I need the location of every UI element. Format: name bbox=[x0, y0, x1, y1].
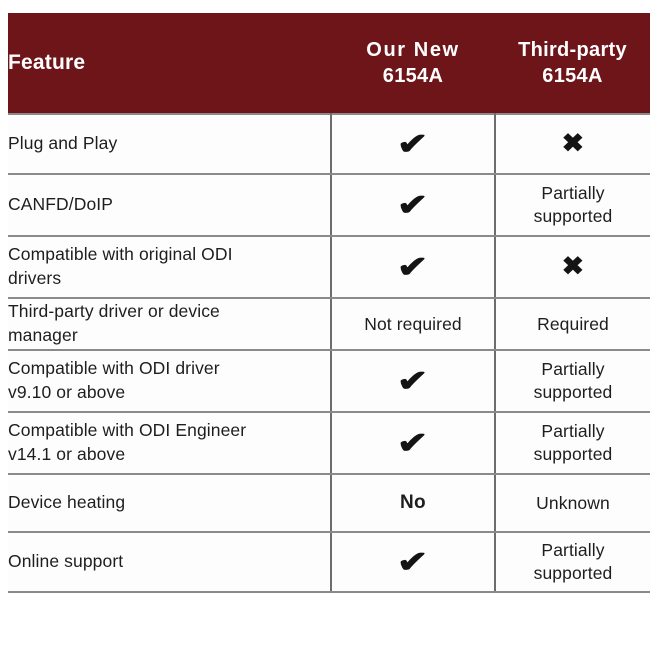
our-product-value-cell: ✔ bbox=[331, 114, 495, 174]
third-party-value-cell: Unknown bbox=[495, 474, 650, 532]
feature-cell: Device heating bbox=[8, 474, 331, 532]
header-third-party-line1: Third-party bbox=[495, 37, 650, 63]
our-product-value-cell: Not required bbox=[331, 298, 495, 350]
header-third-party-product: Third-party 6154A bbox=[495, 13, 650, 114]
value-text-line1: Partially bbox=[496, 420, 650, 443]
check-icon: ✔ bbox=[397, 367, 429, 397]
feature-cell: CANFD/DoIP bbox=[8, 174, 331, 236]
check-icon: ✔ bbox=[397, 191, 429, 221]
check-icon: ✔ bbox=[397, 429, 429, 459]
third-party-value-cell: Required bbox=[495, 298, 650, 350]
feature-text-line1: Compatible with ODI driver bbox=[8, 357, 330, 381]
page-root: Feature Our New 6154A Third-party 6154A … bbox=[0, 0, 650, 650]
header-third-party-line2: 6154A bbox=[495, 63, 650, 89]
our-product-value-cell: ✔ bbox=[331, 412, 495, 474]
table-row: Compatible with original ODIdrivers✔✖ bbox=[8, 236, 650, 298]
cross-icon: ✖ bbox=[562, 131, 585, 157]
value-text-line1: Partially bbox=[496, 358, 650, 381]
third-party-value-cell: ✖ bbox=[495, 114, 650, 174]
feature-cell: Third-party driver or devicemanager bbox=[8, 298, 331, 350]
our-product-value-cell: ✔ bbox=[331, 350, 495, 412]
value-text-line1: Unknown bbox=[496, 492, 650, 515]
table-row: Plug and Play✔✖ bbox=[8, 114, 650, 174]
table-row: Third-party driver or devicemanagerNot r… bbox=[8, 298, 650, 350]
third-party-value-cell: Partiallysupported bbox=[495, 350, 650, 412]
feature-text-line1: Compatible with original ODI bbox=[8, 243, 330, 267]
value-text-line2: supported bbox=[496, 562, 650, 585]
feature-text-line1: Plug and Play bbox=[8, 132, 330, 156]
value-text-line1: Partially bbox=[496, 539, 650, 562]
value-text-line1: No bbox=[332, 491, 494, 516]
third-party-value-cell: Partiallysupported bbox=[495, 412, 650, 474]
header-our-product-line1: Our New bbox=[331, 37, 495, 63]
check-icon: ✔ bbox=[397, 253, 429, 283]
value-text-line2: supported bbox=[496, 381, 650, 404]
feature-text-line1: CANFD/DoIP bbox=[8, 193, 330, 217]
value-text-line1: Not required bbox=[332, 313, 494, 336]
our-product-value-cell: ✔ bbox=[331, 532, 495, 592]
check-icon: ✔ bbox=[397, 548, 429, 578]
third-party-value-cell: Partiallysupported bbox=[495, 174, 650, 236]
feature-text-line2: v14.1 or above bbox=[8, 443, 330, 467]
value-text-line1: Partially bbox=[496, 182, 650, 205]
table-header: Feature Our New 6154A Third-party 6154A bbox=[8, 13, 650, 114]
product-comparison-table: Feature Our New 6154A Third-party 6154A … bbox=[8, 13, 650, 593]
our-product-value-cell: No bbox=[331, 474, 495, 532]
our-product-value-cell: ✔ bbox=[331, 174, 495, 236]
header-our-product: Our New 6154A bbox=[331, 13, 495, 114]
value-text-line2: supported bbox=[496, 205, 650, 228]
header-our-product-line2: 6154A bbox=[331, 63, 495, 89]
feature-cell: Plug and Play bbox=[8, 114, 331, 174]
feature-text-line1: Device heating bbox=[8, 491, 330, 515]
feature-text-line2: manager bbox=[8, 324, 330, 348]
check-icon: ✔ bbox=[397, 130, 429, 160]
feature-text-line2: drivers bbox=[8, 267, 330, 291]
table-row: Device heatingNoUnknown bbox=[8, 474, 650, 532]
feature-text-line2: v9.10 or above bbox=[8, 381, 330, 405]
table-row: Compatible with ODI Engineerv14.1 or abo… bbox=[8, 412, 650, 474]
table-row: CANFD/DoIP✔Partiallysupported bbox=[8, 174, 650, 236]
third-party-value-cell: ✖ bbox=[495, 236, 650, 298]
feature-text-line1: Third-party driver or device bbox=[8, 300, 330, 324]
feature-cell: Compatible with ODI driverv9.10 or above bbox=[8, 350, 331, 412]
value-text-line2: supported bbox=[496, 443, 650, 466]
our-product-value-cell: ✔ bbox=[331, 236, 495, 298]
table-row: Compatible with ODI driverv9.10 or above… bbox=[8, 350, 650, 412]
feature-cell: Online support bbox=[8, 532, 331, 592]
feature-text-line1: Online support bbox=[8, 550, 330, 574]
header-feature: Feature bbox=[8, 13, 331, 114]
third-party-value-cell: Partiallysupported bbox=[495, 532, 650, 592]
value-text-line1: Required bbox=[496, 313, 650, 336]
feature-text-line1: Compatible with ODI Engineer bbox=[8, 419, 330, 443]
feature-cell: Compatible with original ODIdrivers bbox=[8, 236, 331, 298]
feature-cell: Compatible with ODI Engineerv14.1 or abo… bbox=[8, 412, 331, 474]
header-row: Feature Our New 6154A Third-party 6154A bbox=[8, 13, 650, 114]
table-row: Online support✔Partiallysupported bbox=[8, 532, 650, 592]
table-body: Plug and Play✔✖CANFD/DoIP✔Partiallysuppo… bbox=[8, 114, 650, 592]
cross-icon: ✖ bbox=[562, 254, 585, 280]
